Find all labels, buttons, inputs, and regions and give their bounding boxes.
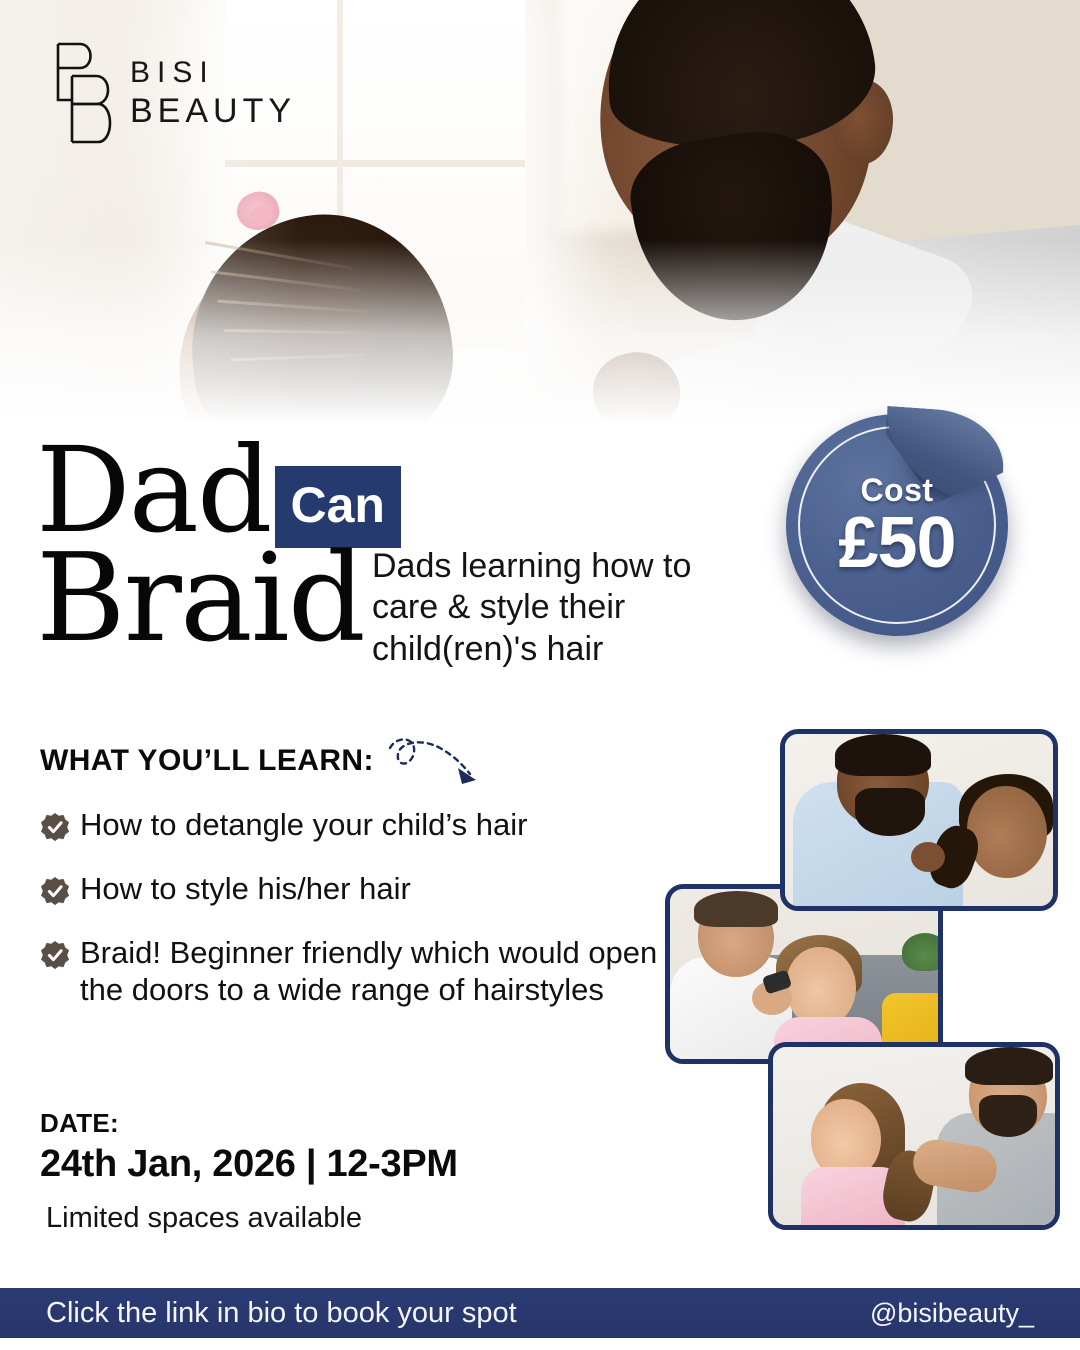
date-label: DATE: — [40, 1108, 458, 1139]
photo-c-father-beard — [979, 1095, 1037, 1137]
check-badge-icon — [40, 940, 70, 970]
list-item: How to style his/her hair — [40, 870, 680, 908]
title-line-2: Braid — [36, 548, 401, 654]
list-item: Braid! Beginner friendly which would ope… — [40, 934, 680, 1010]
photo-a-father-hand — [911, 842, 945, 872]
photo-b-girl-head — [786, 947, 856, 1027]
cost-badge: Cost £50 — [786, 414, 1008, 636]
list-item-label: How to detangle your child’s hair — [80, 806, 527, 844]
limited-spaces-note: Limited spaces available — [46, 1202, 458, 1235]
list-item: How to detangle your child’s hair — [40, 806, 680, 844]
list-item-label: Braid! Beginner friendly which would ope… — [80, 934, 680, 1010]
list-item-label: How to style his/her hair — [80, 870, 411, 908]
flyer-root: BISI BEAUTY Dad Can Braid Dads learning … — [0, 0, 1080, 1350]
bb-monogram-icon — [52, 38, 116, 148]
photo-b-father-hair — [694, 891, 778, 927]
photo-a-father-hair — [835, 734, 931, 776]
learn-bullet-list: How to detangle your child’s hair How to… — [40, 806, 680, 1009]
date-value: 24th Jan, 2026 | 12-3PM — [40, 1143, 458, 1186]
dad-brushing-girl-hair-on-sofa-photo — [670, 889, 938, 1059]
check-badge-icon — [40, 876, 70, 906]
main-title: Dad Can Braid — [36, 436, 401, 654]
learn-heading: WHAT YOU’LL LEARN: — [40, 744, 374, 778]
photo-collage — [660, 724, 1070, 1244]
black-dad-braiding-daughter-photo — [785, 734, 1053, 906]
brand-line-1: BISI — [130, 58, 296, 88]
photo-a-girl-head — [967, 786, 1047, 878]
title-word-braid: Braid — [36, 542, 364, 654]
photo-b-plant — [902, 933, 943, 971]
footer-bar: Click the link in bio to book your spot … — [0, 1288, 1080, 1338]
brand-wordmark: BISI BEAUTY — [130, 58, 296, 128]
date-section: DATE: 24th Jan, 2026 | 12-3PM Limited sp… — [40, 1108, 458, 1235]
collage-photo-2 — [665, 884, 943, 1064]
brand-logo: BISI BEAUTY — [52, 38, 296, 148]
what-you-will-learn-section: WHAT YOU’LL LEARN: How to detangle your … — [40, 744, 680, 1035]
cost-amount: £50 — [838, 507, 955, 579]
curly-arrow-icon — [382, 734, 492, 790]
subtitle: Dads learning how to care & style their … — [372, 546, 702, 670]
learn-heading-row: WHAT YOU’LL LEARN: — [40, 744, 680, 790]
brand-line-2: BEAUTY — [130, 94, 296, 128]
check-badge-icon — [40, 812, 70, 842]
footer-cta-text[interactable]: Click the link in bio to book your spot — [46, 1297, 517, 1330]
photo-a-father-beard — [855, 788, 925, 836]
dad-braiding-standing-girl-photo — [773, 1047, 1055, 1225]
cost-badge-text: Cost £50 — [786, 414, 1008, 636]
collage-photo-3 — [768, 1042, 1060, 1230]
photo-c-father-hair — [965, 1047, 1053, 1085]
collage-photo-1 — [780, 729, 1058, 911]
footer-social-handle[interactable]: @bisibeauty_ — [870, 1298, 1034, 1329]
